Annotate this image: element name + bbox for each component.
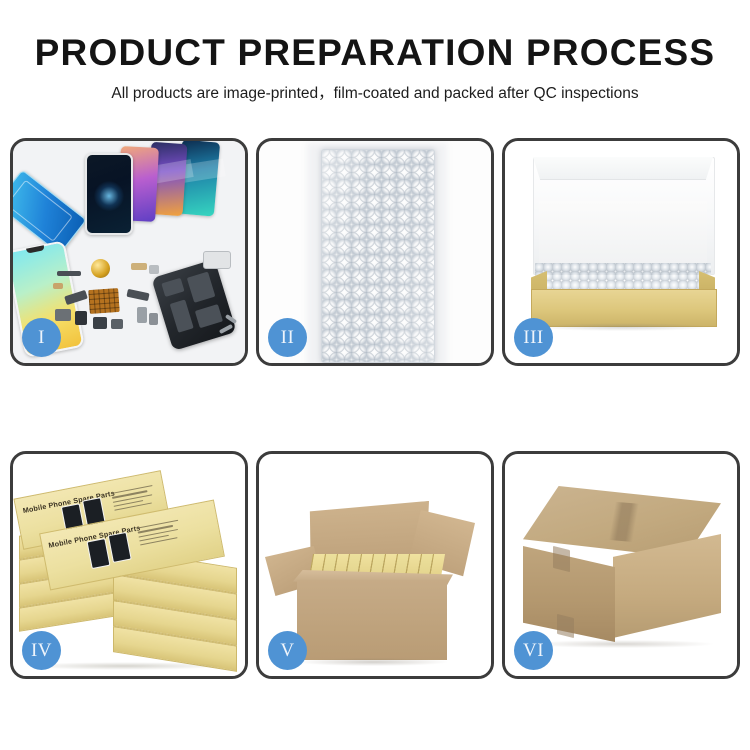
inner-box-foam-sheet: [539, 201, 707, 263]
button-flex-part: [149, 313, 158, 325]
box-spec-lines-second: [137, 519, 186, 557]
page-subtitle: All products are image-printed，film-coat…: [0, 82, 750, 106]
plastic-sheen: [322, 150, 434, 362]
process-step-panel-1[interactable]: I: [10, 138, 248, 366]
speaker-part: [75, 311, 87, 325]
process-step-panel-4[interactable]: Mobile Phone Spare Parts Mobile Phone Sp…: [10, 451, 248, 679]
box-art-screen-4: [108, 532, 132, 563]
inner-box-shadow: [535, 323, 711, 331]
process-panel-grid: I II III: [10, 138, 740, 679]
connector-part: [131, 263, 147, 270]
taptic-engine-part: [93, 317, 107, 329]
bubble-wrap-sleeve: [321, 149, 435, 363]
sealed-carton-shadow: [531, 640, 713, 648]
panel-4-step-badge: IV: [22, 631, 61, 670]
phone-black-front-glass: [85, 153, 133, 235]
process-step-panel-3[interactable]: III: [502, 138, 740, 366]
copper-tape-part: [53, 283, 63, 289]
carton-shadow: [299, 658, 447, 666]
sim-tray-part: [137, 307, 147, 323]
panel-3-step-badge: III: [514, 318, 553, 357]
camera-module-part: [55, 309, 71, 321]
small-bracket-part: [149, 265, 159, 274]
inner-box-lid-fold: [533, 157, 713, 180]
panel-6-step-badge: VI: [514, 631, 553, 670]
adhesive-sheet-part: [203, 251, 231, 269]
carton-tape-patch-upper: [553, 546, 570, 572]
panel-5-step-badge: V: [268, 631, 307, 670]
inner-box-front-wall: [531, 289, 717, 327]
process-step-panel-6[interactable]: VI: [502, 451, 740, 679]
page-title: PRODUCT PREPARATION PROCESS: [0, 30, 750, 76]
page-header: PRODUCT PREPARATION PROCESS All products…: [0, 0, 750, 106]
carton-front-face: [297, 580, 447, 660]
panel-2-step-badge: II: [268, 318, 307, 357]
process-step-panel-5[interactable]: V: [256, 451, 494, 679]
process-step-panel-2[interactable]: II: [256, 138, 494, 366]
panel-1-step-badge: I: [22, 318, 61, 357]
logic-board-chip: [88, 288, 120, 314]
flex-cable-part: [57, 271, 81, 276]
vibration-motor-part: [91, 259, 110, 278]
box-art-screen-3: [87, 538, 111, 569]
shield-plate-part: [111, 319, 123, 329]
bubble-wrapped-contents: [535, 263, 711, 291]
carton-tape-patch-lower: [557, 614, 574, 638]
screen-glow: [94, 181, 124, 211]
